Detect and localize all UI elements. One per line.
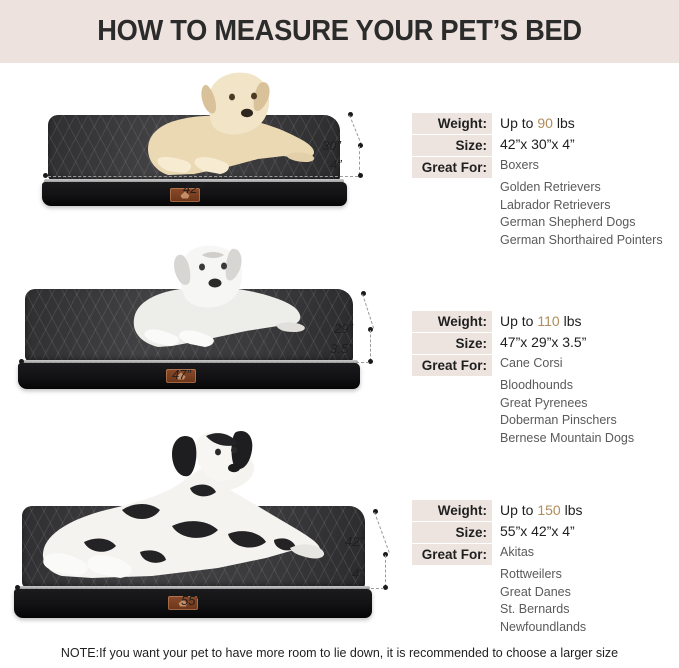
dog-photo-white-mastiff — [86, 243, 316, 358]
breed-list-xxlarge: Rottweilers Great Danes St. Bernards New… — [492, 566, 679, 636]
bed-illustration-xxlarge: 42” 4” 55” — [0, 428, 405, 640]
dim-label-height: 4” — [330, 157, 342, 172]
dim-line-height — [370, 330, 371, 361]
spec-panel-xxlarge: Weight: Up to 150 lbs Size: 55”x 42”x 4”… — [412, 500, 679, 636]
dog-photo-yellow-labrador — [108, 67, 323, 187]
dog-photo-harlequin-great-dane — [22, 430, 352, 590]
dim-label-length: 55” — [181, 593, 200, 608]
spec-row-weight: Weight: Up to 90 lbs — [412, 113, 679, 134]
breed-item: Cane Corsi — [492, 355, 563, 372]
spec-panel-xlarge: Weight: Up to 110 lbs Size: 47”x 29”x 3.… — [412, 311, 679, 447]
spec-label-great-for: Great For: — [412, 355, 492, 376]
bed-illustration-large: 30” 4” 42” — [0, 63, 405, 243]
size-section-large: 30” 4” 42” Weight: Up to 90 lbs Size: 42… — [0, 63, 679, 243]
bed-illustration-xlarge: 29” 3.5” 47” — [0, 243, 405, 428]
dim-label-length: 47” — [172, 367, 191, 382]
spec-value-size: 55”x 42”x 4” — [492, 522, 575, 541]
weight-prefix: Up to — [500, 313, 533, 329]
spec-label-size: Size: — [412, 135, 492, 156]
weight-number: 90 — [537, 115, 553, 131]
spec-row-great-for: Great For: Boxers — [412, 157, 679, 178]
spec-label-great-for: Great For: — [412, 544, 492, 565]
spec-row-size: Size: 47”x 29”x 3.5” — [412, 333, 679, 354]
spec-panel-large: Weight: Up to 90 lbs Size: 42”x 30”x 4” … — [412, 113, 679, 249]
weight-number: 110 — [537, 313, 559, 329]
dim-line-length — [24, 362, 369, 363]
spec-label-weight: Weight: — [412, 113, 492, 134]
weight-suffix: lbs — [557, 115, 575, 131]
size-section-xxlarge: 42” 4” 55” Weight: Up to 150 lbs Size: 5… — [0, 428, 679, 640]
spec-value-size: 47”x 29”x 3.5” — [492, 333, 586, 352]
spec-label-weight: Weight: — [412, 311, 492, 332]
breed-item: Doberman Pinschers — [500, 412, 679, 430]
breed-item: Bloodhounds — [500, 377, 679, 395]
breed-item: Newfoundlands — [500, 619, 679, 637]
breed-item: St. Bernards — [500, 601, 679, 619]
spec-row-great-for: Great For: Cane Corsi — [412, 355, 679, 376]
spec-label-size: Size: — [412, 522, 492, 543]
breed-item: Golden Retrievers — [500, 179, 679, 197]
weight-prefix: Up to — [500, 502, 533, 518]
spec-label-great-for: Great For: — [412, 157, 492, 178]
spec-row-great-for: Great For: Akitas — [412, 544, 679, 565]
dim-label-height: 3.5” — [330, 341, 352, 356]
spec-value-weight: Up to 110 lbs — [492, 311, 581, 332]
dim-line-height — [385, 555, 386, 587]
dim-line-length — [48, 176, 358, 177]
spec-row-size: Size: 42”x 30”x 4” — [412, 135, 679, 156]
dim-label-depth: 30” — [322, 138, 341, 153]
breed-item: Boxers — [492, 157, 539, 174]
breed-item: Akitas — [492, 544, 534, 561]
spec-value-weight: Up to 150 lbs — [492, 500, 583, 521]
spec-value-weight: Up to 90 lbs — [492, 113, 575, 134]
dim-label-length: 42” — [183, 181, 202, 196]
dim-line-length — [20, 588, 384, 589]
footer-note: NOTE:If you want your pet to have more r… — [0, 646, 679, 660]
dim-line-depth — [362, 294, 374, 329]
breed-list-large: Golden Retrievers Labrador Retrievers Ge… — [492, 179, 679, 249]
breed-item: Great Danes — [500, 584, 679, 602]
dim-dot-height-bottom — [358, 173, 363, 178]
size-section-xlarge: 29” 3.5” 47” Weight: Up to 110 lbs Size:… — [0, 243, 679, 428]
breed-item: German Shepherd Dogs — [500, 214, 679, 232]
breed-item: Labrador Retrievers — [500, 197, 679, 215]
breed-item: Rottweilers — [500, 566, 679, 584]
dim-line-depth — [349, 115, 362, 145]
spec-row-weight: Weight: Up to 150 lbs — [412, 500, 679, 521]
spec-value-size: 42”x 30”x 4” — [492, 135, 575, 154]
spec-row-size: Size: 55”x 42”x 4” — [412, 522, 679, 543]
spec-label-weight: Weight: — [412, 500, 492, 521]
dim-label-depth: 29” — [334, 321, 353, 336]
dim-line-depth — [374, 512, 390, 553]
weight-number: 150 — [537, 502, 560, 518]
weight-suffix: lbs — [564, 313, 582, 329]
page-title: HOW TO MEASURE YOUR PET’S BED — [20, 0, 658, 63]
breed-item: Great Pyrenees — [500, 395, 679, 413]
dim-label-depth: 42” — [345, 534, 364, 549]
spec-row-weight: Weight: Up to 110 lbs — [412, 311, 679, 332]
dim-line-height — [359, 146, 360, 175]
spec-label-size: Size: — [412, 333, 492, 354]
weight-suffix: lbs — [565, 502, 583, 518]
weight-prefix: Up to — [500, 115, 533, 131]
dim-label-height: 4” — [352, 566, 364, 581]
